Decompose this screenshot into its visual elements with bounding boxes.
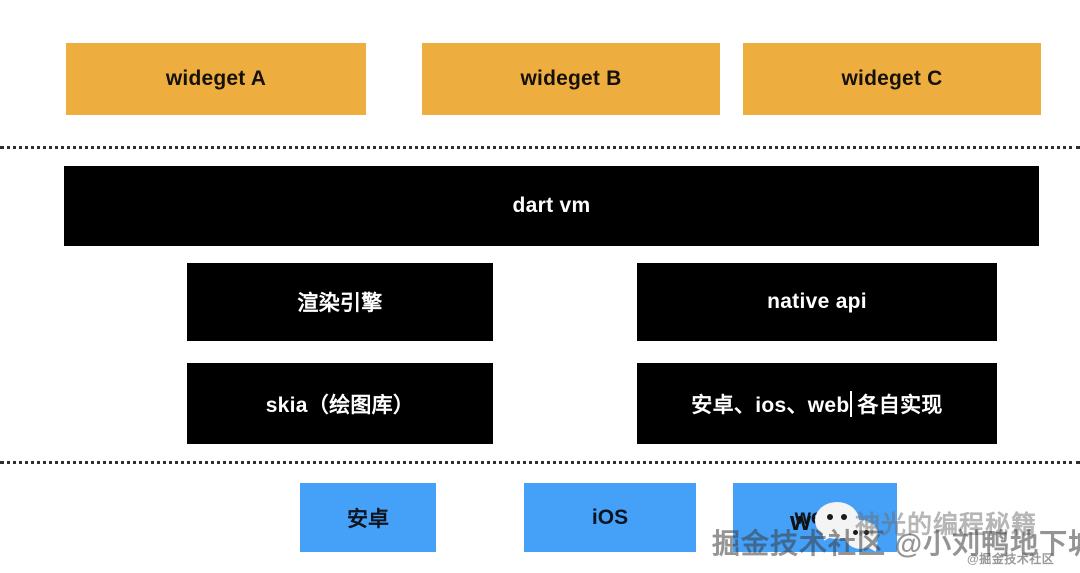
- diagram-canvas: wideget A wideget B wideget C dart vm 渲染…: [0, 0, 1080, 573]
- engine-box-native-api-label: native api: [767, 290, 867, 314]
- widget-box-c-label: wideget C: [842, 67, 943, 91]
- platform-box-web: web: [733, 483, 897, 552]
- widget-box-a-label: wideget A: [166, 67, 266, 91]
- engine-box-native-api: native api: [637, 263, 997, 341]
- text-caret: [850, 391, 852, 417]
- engine-box-platform-impl-label-before: 安卓、ios、web: [691, 389, 849, 419]
- engine-box-dart-vm: dart vm: [64, 166, 1039, 246]
- widget-box-b-label: wideget B: [521, 67, 622, 91]
- platform-box-ios-label: iOS: [592, 506, 628, 530]
- platform-box-android: 安卓: [300, 483, 436, 552]
- engine-box-dart-vm-label: dart vm: [513, 194, 591, 218]
- widget-box-c: wideget C: [743, 43, 1041, 115]
- platform-box-ios: iOS: [524, 483, 696, 552]
- layer-divider-top: [0, 146, 1080, 149]
- widget-box-a: wideget A: [66, 43, 366, 115]
- layer-divider-bottom: [0, 461, 1080, 464]
- engine-box-skia-label: skia（绘图库）: [266, 389, 415, 419]
- engine-box-platform-impl-label-after: 各自实现: [857, 389, 942, 419]
- platform-box-android-label: 安卓: [347, 503, 389, 533]
- engine-box-render-engine: 渲染引擎: [187, 263, 493, 341]
- engine-box-platform-impl: 安卓、ios、web各自实现: [637, 363, 997, 444]
- widget-box-b: wideget B: [422, 43, 720, 115]
- engine-box-render-engine-label: 渲染引擎: [297, 287, 382, 317]
- watermark-juejin-site: @掘金技术社区: [967, 550, 1054, 567]
- engine-box-skia: skia（绘图库）: [187, 363, 493, 444]
- platform-box-web-label: web: [795, 506, 836, 530]
